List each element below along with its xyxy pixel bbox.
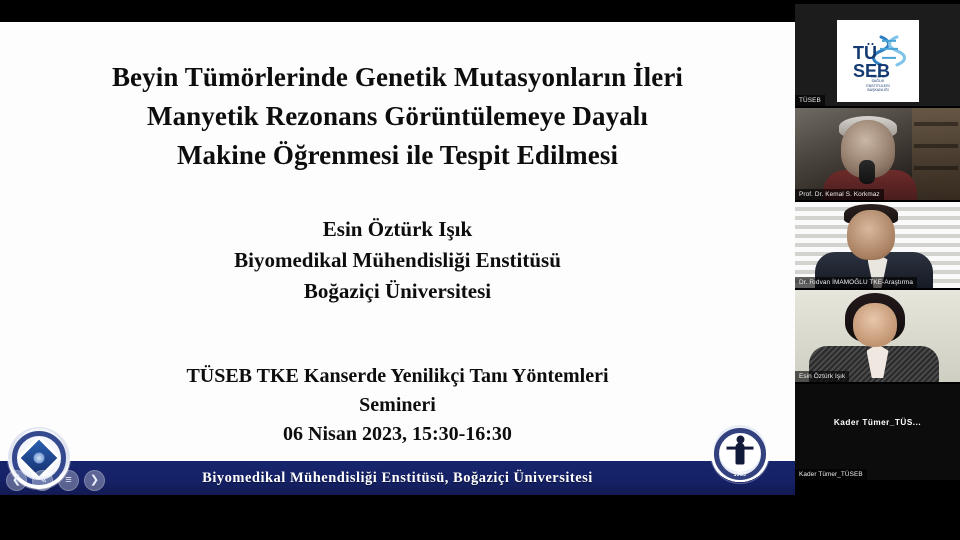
slide-title: Beyin Tümörlerinde Genetik Mutasyonların…	[40, 58, 755, 175]
participant-video-panel[interactable]: TÜ SEB TÜRKİYESAĞLIKENSTİTÜLERİBAŞKANLIĞ…	[795, 0, 960, 540]
event-datetime: 06 Nisan 2023, 15:30-16:30	[40, 420, 755, 449]
seal-year: 1983	[711, 472, 769, 478]
previous-slide-icon[interactable]: ❮	[6, 470, 27, 491]
slide-event-block: TÜSEB TKE Kanserde Yenilikçi Tanı Yöntem…	[40, 362, 755, 449]
video-tile-kemal-korkmaz[interactable]: Prof. Dr. Kemal S. Korkmaz	[795, 108, 960, 200]
event-title-line-1: TÜSEB TKE Kanserde Yenilikçi Tanı Yöntem…	[40, 362, 755, 391]
video-tile-esin-ozturk-isik[interactable]: Esin Öztürk Işık	[795, 290, 960, 382]
participant-name-label: Dr. Rıdvan İMAMOĞLU TKE-Araştırma	[795, 277, 917, 288]
slide-footer-bar: Biyomedikal Mühendisliği Enstitüsü, Boğa…	[0, 461, 795, 495]
author-university: Boğaziçi Üniversitesi	[40, 276, 755, 307]
author-name: Esin Öztürk Işık	[40, 214, 755, 245]
next-slide-icon[interactable]: ❯	[84, 470, 105, 491]
participant-name-label: Esin Öztürk Işık	[795, 371, 849, 382]
camera-off-name-placeholder: Kader Tümer_TÜS...	[795, 418, 960, 427]
slide-title-line-3: Makine Öğrenmesi ile Tespit Edilmesi	[40, 136, 755, 175]
author-department: Biyomedikal Mühendisliği Enstitüsü	[40, 245, 755, 276]
background-shelf	[912, 108, 960, 200]
slide-title-line-2: Manyetik Rezonans Görüntülemeye Dayalı	[40, 97, 755, 136]
biomedical-engineering-institute-seal-icon: 1983	[711, 425, 769, 483]
slide-title-line-1: Beyin Tümörlerinde Genetik Mutasyonların…	[40, 58, 755, 97]
annotation-menu-icon[interactable]: ≡	[58, 470, 79, 491]
participant-face	[853, 303, 897, 347]
video-tile-ridvan-imamoglu[interactable]: Dr. Rıdvan İMAMOĞLU TKE-Araştırma	[795, 202, 960, 288]
svg-text:TÜ: TÜ	[853, 43, 877, 63]
slide-author-block: Esin Öztürk Işık Biyomedikal Mühendisliğ…	[40, 214, 755, 307]
microphone-prop	[859, 160, 875, 184]
participant-face	[847, 210, 895, 260]
tuseb-logo-subtitle: TÜRKİYESAĞLIKENSTİTÜLERİBAŞKANLIĞI	[866, 75, 889, 93]
video-tile-kader-tumer[interactable]: Kader Tümer_TÜS... Kader Tümer_TÜSEB	[795, 384, 960, 480]
presentation-slide[interactable]: Beyin Tümörlerinde Genetik Mutasyonların…	[0, 22, 795, 495]
tuseb-logo-slide: TÜ SEB TÜRKİYESAĞLIKENSTİTÜLERİBAŞKANLIĞ…	[837, 20, 919, 102]
slide-footer-text: Biyomedikal Mühendisliği Enstitüsü, Boğa…	[0, 461, 795, 495]
video-tile-tuseb[interactable]: TÜ SEB TÜRKİYESAĞLIKENSTİTÜLERİBAŞKANLIĞ…	[795, 4, 960, 106]
pen-tool-icon[interactable]: ✎	[32, 470, 53, 491]
participant-name-label: Kader Tümer_TÜSEB	[795, 469, 867, 480]
participant-name-label: Prof. Dr. Kemal S. Korkmaz	[795, 189, 884, 200]
shared-screen-region[interactable]: Beyin Tümörlerinde Genetik Mutasyonların…	[0, 0, 795, 540]
slideshow-nav-controls[interactable]: ❮ ✎ ≡ ❯	[6, 470, 105, 491]
event-title-line-2: Semineri	[40, 391, 755, 420]
participant-name-label: TÜSEB	[795, 95, 825, 106]
meeting-screen: Beyin Tümörlerinde Genetik Mutasyonların…	[0, 0, 960, 540]
